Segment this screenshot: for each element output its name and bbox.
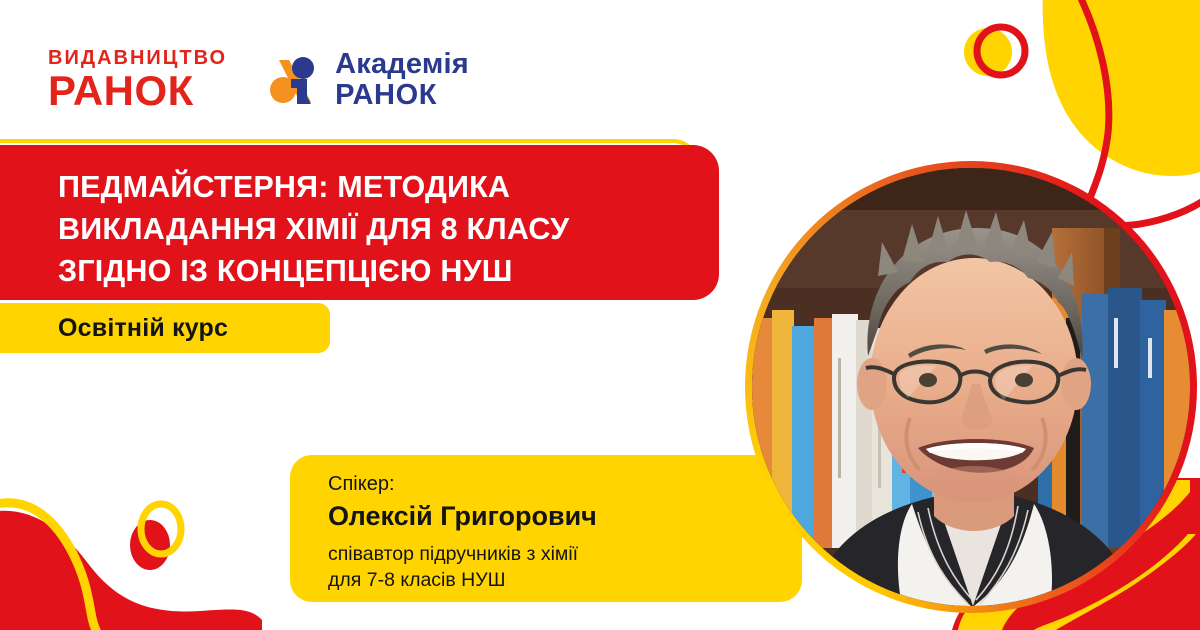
bottom-left-red-dot-icon: [130, 520, 170, 570]
publisher-logo-line1: ВИДАВНИЦТВО: [48, 48, 227, 68]
title-banner: ПЕДМАЙСТЕРНЯ: МЕТОДИКА ВИКЛАДАННЯ ХІМІЇ …: [0, 145, 719, 300]
speaker-card: Спікер: Олексій Григорович співавтор під…: [290, 455, 802, 602]
bottom-left-red-blob-icon: [0, 511, 262, 630]
publisher-logo[interactable]: ВИДАВНИЦТВО РАНОК: [48, 48, 227, 112]
top-right-yellow-blob-icon: [1043, 0, 1200, 176]
bottom-left-yellow-ring-icon: [141, 504, 181, 554]
speaker-role: співавтор підручників з хімії для 7-8 кл…: [328, 542, 802, 593]
promo-banner: ВИДАВНИЦТВО РАНОК Академія РАНОК ПЕДМАЙС…: [0, 0, 1200, 630]
academy-logo[interactable]: Академія РАНОК: [267, 50, 469, 110]
speaker-photo-icon: [752, 168, 1190, 606]
logo-group: ВИДАВНИЦТВО РАНОК Академія РАНОК: [48, 48, 469, 112]
academy-mark-icon: [267, 52, 323, 108]
bottom-left-yellow-curve-icon: [0, 503, 96, 630]
top-right-red-ring-icon: [977, 27, 1025, 75]
speaker-label: Спікер:: [328, 473, 802, 496]
course-type-label: Освітній курс: [58, 314, 228, 343]
publisher-logo-line2: РАНОК: [48, 70, 194, 112]
speaker-name: Олексій Григорович: [328, 500, 802, 532]
speaker-portrait: [745, 161, 1197, 613]
page-title: ПЕДМАЙСТЕРНЯ: МЕТОДИКА ВИКЛАДАННЯ ХІМІЇ …: [58, 167, 685, 292]
course-type-badge: Освітній курс: [0, 303, 330, 353]
academy-logo-line1: Академія: [335, 50, 469, 79]
academy-logo-line2: РАНОК: [335, 81, 469, 110]
portrait-image-clip: [752, 168, 1190, 606]
top-right-yellow-dot-icon: [964, 28, 1012, 76]
